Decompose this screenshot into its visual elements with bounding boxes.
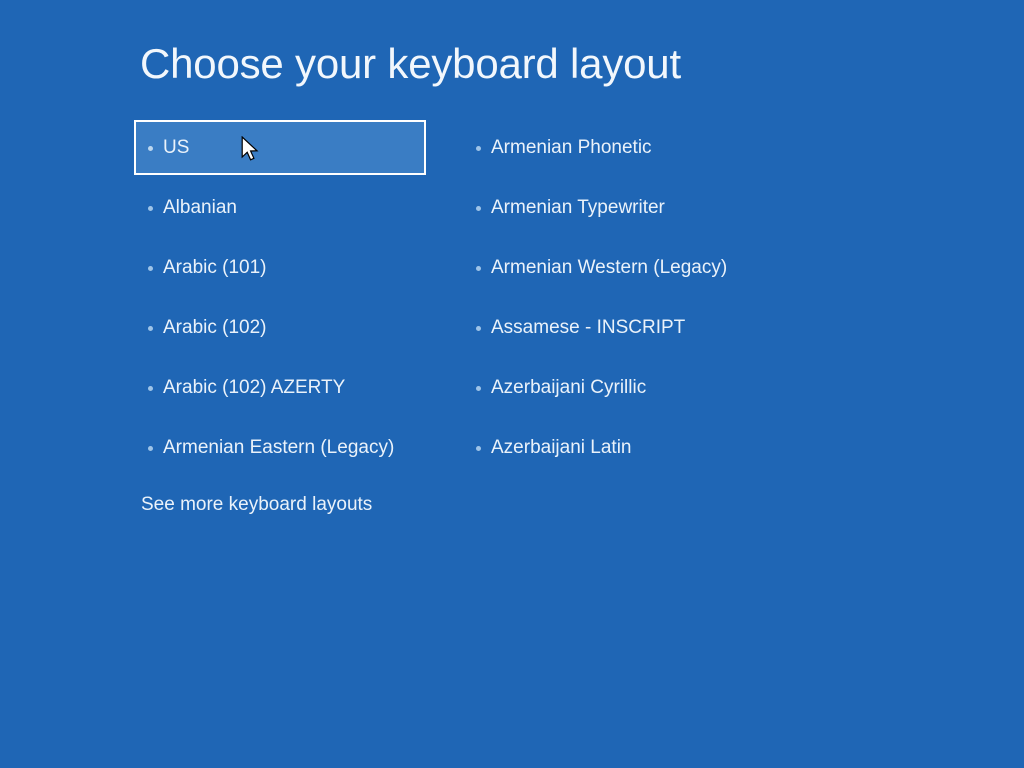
keyboard-layout-item[interactable]: Azerbaijani Latin: [462, 420, 792, 475]
keyboard-layout-item[interactable]: US: [134, 120, 426, 175]
bullet-icon: [148, 266, 153, 271]
keyboard-layout-item[interactable]: Armenian Western (Legacy): [462, 240, 792, 295]
keyboard-layout-item-label: Azerbaijani Latin: [491, 437, 631, 459]
see-more-keyboard-layouts-link[interactable]: See more keyboard layouts: [141, 492, 372, 518]
keyboard-layout-column-right: Armenian PhoneticArmenian TypewriterArme…: [462, 120, 792, 480]
keyboard-layout-item-label: Arabic (101): [163, 257, 267, 279]
keyboard-layout-item-label: Armenian Western (Legacy): [491, 257, 727, 279]
keyboard-layout-item-label: Armenian Eastern (Legacy): [163, 437, 394, 459]
bullet-icon: [476, 446, 481, 451]
keyboard-layout-item-label: Azerbaijani Cyrillic: [491, 377, 646, 399]
bullet-icon: [476, 326, 481, 331]
bullet-icon: [476, 206, 481, 211]
bullet-icon: [476, 386, 481, 391]
keyboard-layout-column-left: USAlbanianArabic (101)Arabic (102)Arabic…: [134, 120, 426, 480]
bullet-icon: [148, 146, 153, 151]
bullet-icon: [476, 146, 481, 151]
bullet-icon: [476, 266, 481, 271]
keyboard-layout-item[interactable]: Assamese - INSCRIPT: [462, 300, 792, 355]
keyboard-layout-item[interactable]: Armenian Typewriter: [462, 180, 792, 235]
keyboard-layout-item[interactable]: Arabic (101): [134, 240, 426, 295]
keyboard-layout-item-label: US: [163, 137, 189, 159]
bullet-icon: [148, 446, 153, 451]
keyboard-layout-item-label: Arabic (102) AZERTY: [163, 377, 345, 399]
keyboard-layout-item[interactable]: Armenian Eastern (Legacy): [134, 420, 426, 475]
keyboard-layout-item-label: Albanian: [163, 197, 237, 219]
keyboard-layout-item-label: Assamese - INSCRIPT: [491, 317, 685, 339]
keyboard-layout-item[interactable]: Arabic (102): [134, 300, 426, 355]
keyboard-layout-item-label: Armenian Typewriter: [491, 197, 665, 219]
bullet-icon: [148, 326, 153, 331]
bullet-icon: [148, 206, 153, 211]
bullet-icon: [148, 386, 153, 391]
keyboard-layout-item[interactable]: Azerbaijani Cyrillic: [462, 360, 792, 415]
keyboard-layout-item[interactable]: Arabic (102) AZERTY: [134, 360, 426, 415]
keyboard-layout-item-label: Armenian Phonetic: [491, 137, 652, 159]
keyboard-layout-item-label: Arabic (102): [163, 317, 267, 339]
keyboard-layout-item[interactable]: Albanian: [134, 180, 426, 235]
keyboard-layout-list: USAlbanianArabic (101)Arabic (102)Arabic…: [0, 0, 1024, 768]
keyboard-layout-item[interactable]: Armenian Phonetic: [462, 120, 792, 175]
